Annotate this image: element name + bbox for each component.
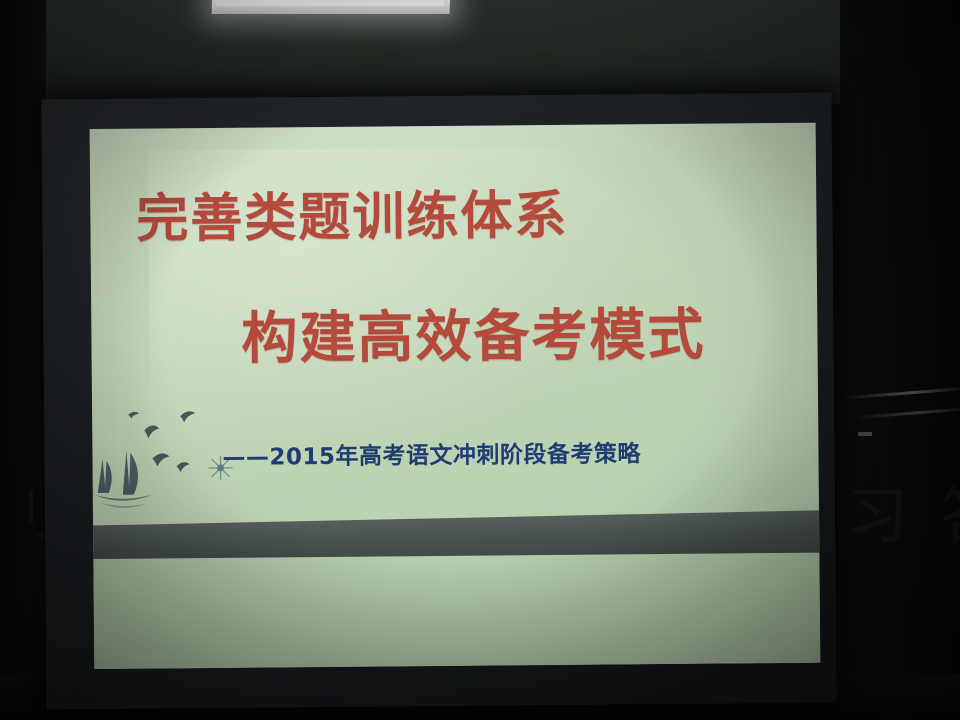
ceiling-light-glow	[216, 0, 444, 6]
slide-footer-panel: 阳新一中 高三语文组 1	[93, 553, 820, 669]
slide-title-line-1: 完善类题训练体系	[136, 173, 569, 252]
left-wall-banner-text: 刂	[0, 468, 46, 558]
right-wall-banner-text: 习 答	[846, 470, 958, 562]
projection-screen-frame: 完善类题训练体系 构建高效备考模式 ——2015年高考语文冲刺阶段备考策略 阳新…	[41, 93, 836, 710]
left-wall	[0, 0, 46, 720]
right-wall-marker	[858, 432, 872, 436]
slide-title-line-2: 构建高效备考模式	[241, 290, 706, 375]
right-wall	[840, 0, 960, 720]
slide-subtitle: ——2015年高考语文冲刺阶段备考策略	[222, 434, 641, 472]
presentation-slide: 完善类题训练体系 构建高效备考模式 ——2015年高考语文冲刺阶段备考策略 阳新…	[90, 123, 821, 669]
ceiling-wall	[0, 0, 960, 104]
classroom-photo: 习 答 刂	[0, 0, 960, 720]
